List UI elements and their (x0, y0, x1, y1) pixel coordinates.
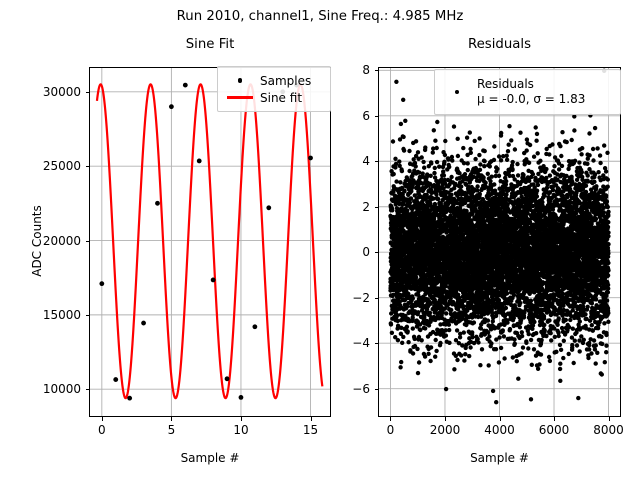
sine-fit-legend[interactable]: Samples Sine fit (217, 66, 331, 112)
sine-fit-line-icon (225, 96, 255, 98)
x-tick-label: 0 (98, 423, 106, 437)
y-tick-label: 6 (338, 109, 370, 123)
y-tick (375, 207, 379, 208)
y-tick (375, 116, 379, 117)
legend-label-sine-fit: Sine fit (260, 92, 302, 104)
x-tick (241, 417, 242, 421)
x-tick (445, 417, 446, 421)
residuals-legend-line1: Residuals (477, 77, 585, 92)
x-tick-label: 8000 (593, 423, 624, 437)
y-tick-label: 25000 (0, 159, 81, 173)
x-tick-label: 2000 (430, 423, 461, 437)
x-tick-label: 5 (168, 423, 176, 437)
figure-canvas: Run 2010, channel1, Sine Freq.: 4.985 MH… (0, 0, 640, 480)
residuals-marker-icon (442, 90, 472, 95)
x-tick-label: 15 (303, 423, 318, 437)
y-tick-label: 8 (338, 63, 370, 77)
x-tick-label: 6000 (539, 423, 570, 437)
x-tick (171, 417, 172, 421)
x-tick (500, 417, 501, 421)
y-tick (375, 161, 379, 162)
sine-fit-title: Sine Fit (89, 37, 331, 52)
residuals-plot-area (378, 67, 621, 417)
y-tick (375, 298, 379, 299)
x-tick-label: 4000 (484, 423, 515, 437)
sine-fit-xlabel: Sample # (89, 451, 331, 465)
y-tick (86, 241, 90, 242)
x-tick (390, 417, 391, 421)
legend-label-samples: Samples (260, 75, 311, 87)
figure-suptitle: Run 2010, channel1, Sine Freq.: 4.985 MH… (0, 9, 640, 24)
y-tick-label: 30000 (0, 85, 81, 99)
y-tick-label: 2 (338, 200, 370, 214)
x-tick-label: 10 (233, 423, 248, 437)
y-tick (375, 70, 379, 71)
y-tick (375, 343, 379, 344)
y-tick-label: −4 (338, 336, 370, 350)
y-tick-label: −2 (338, 291, 370, 305)
y-tick (86, 389, 90, 390)
y-tick (375, 389, 379, 390)
residuals-legend-line2: μ = -0.0, σ = 1.83 (477, 92, 585, 107)
sine-fit-canvas (90, 68, 330, 416)
y-tick-label: 20000 (0, 234, 81, 248)
samples-marker-icon (225, 78, 255, 83)
y-tick (86, 92, 90, 93)
y-tick-label: 4 (338, 154, 370, 168)
x-tick (554, 417, 555, 421)
residuals-legend[interactable]: Residuals μ = -0.0, σ = 1.83 (434, 69, 621, 115)
y-tick-label: −6 (338, 382, 370, 396)
x-tick-label: 0 (387, 423, 395, 437)
residuals-canvas (379, 68, 620, 416)
y-tick (86, 166, 90, 167)
y-tick-label: 0 (338, 245, 370, 259)
y-tick-label: 10000 (0, 382, 81, 396)
y-tick (375, 252, 379, 253)
residuals-xlabel: Sample # (378, 451, 621, 465)
residuals-title: Residuals (378, 37, 621, 52)
legend-entry-sine-fit: Sine fit (225, 89, 323, 106)
y-tick (86, 315, 90, 316)
legend-entry-samples: Samples (225, 72, 323, 89)
x-tick (609, 417, 610, 421)
sine-fit-plot-area (89, 67, 331, 417)
x-tick (311, 417, 312, 421)
y-tick-label: 15000 (0, 308, 81, 322)
x-tick (102, 417, 103, 421)
